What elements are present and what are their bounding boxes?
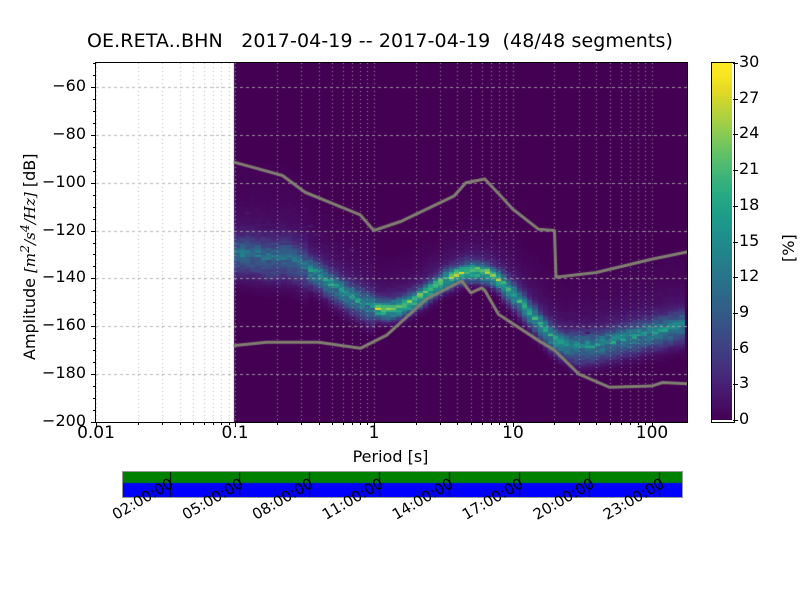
y-tick-label: −60	[28, 78, 86, 94]
plot-title: OE.RETA..BHN 2017-04-19 -- 2017-04-19 (4…	[0, 30, 760, 52]
ppsd-figure: OE.RETA..BHN 2017-04-19 -- 2017-04-19 (4…	[0, 0, 800, 600]
colorbar-tick-label: 3	[739, 375, 749, 391]
y-axis-label-suffix: [dB]	[20, 154, 39, 193]
x-tick-label: 100	[617, 425, 687, 442]
time-coverage-canvas	[123, 472, 682, 497]
colorbar-tick-label: 6	[739, 340, 749, 356]
y-tick-label: −80	[28, 126, 86, 142]
colorbar-tick-label: 15	[739, 233, 759, 249]
colorbar-unit-label: [%]	[779, 234, 798, 262]
y-axis-label: Amplitude [m2/s4/Hz] [dB]	[17, 154, 39, 360]
colorbar-tick-label: 18	[739, 197, 759, 213]
y-tick-label: −200	[28, 413, 86, 429]
time-coverage-bar	[122, 471, 683, 498]
ppsd-histogram	[96, 63, 687, 422]
colorbar-tick-label: 0	[739, 411, 749, 427]
x-tick-label: 0.1	[200, 425, 270, 442]
colorbar-gradient	[712, 63, 732, 420]
y-tick-label: −180	[28, 365, 86, 381]
colorbar-tick-label: 27	[739, 90, 759, 106]
colorbar-tick-label: 24	[739, 125, 759, 141]
x-tick-label: 10	[478, 425, 548, 442]
ppsd-plot-area	[95, 62, 688, 423]
colorbar-tick-label: 30	[739, 54, 759, 70]
colorbar-tick-label: 12	[739, 268, 759, 284]
x-tick-label: 1	[339, 425, 409, 442]
x-tick-label: 0.01	[61, 425, 131, 442]
y-axis-label-prefix: Amplitude	[20, 273, 39, 360]
y-axis-label-units: [m2/s4/Hz]	[21, 192, 39, 273]
colorbar-tick-label: 21	[739, 161, 759, 177]
colorbar	[711, 62, 735, 423]
colorbar-tick-label: 9	[739, 304, 749, 320]
x-axis-label: Period [s]	[95, 447, 686, 466]
